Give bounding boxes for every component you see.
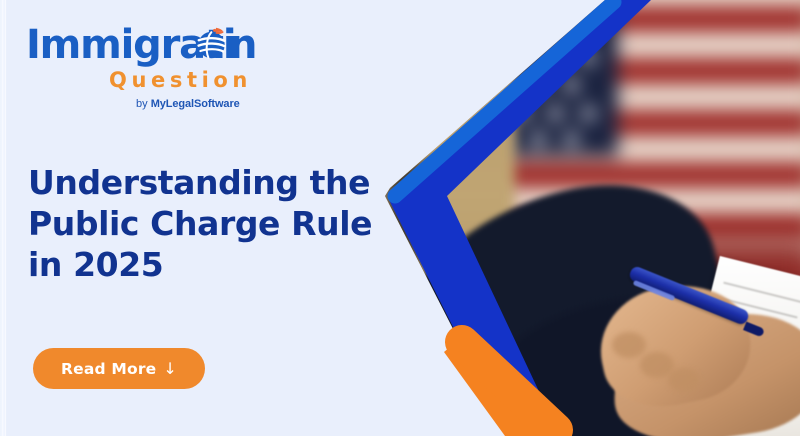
background-wall-shadow xyxy=(385,0,421,436)
byline-company: MyLegalSoftware xyxy=(151,98,240,110)
read-more-button[interactable]: Read More ↓ xyxy=(33,348,205,389)
down-arrow-icon: ↓ xyxy=(163,359,177,378)
page-title: Understanding the Public Charge Rule in … xyxy=(28,162,374,285)
logo-byline: by MyLegalSoftware xyxy=(136,98,276,111)
left-edge-line-2 xyxy=(5,0,6,436)
byline-prefix: by xyxy=(136,98,148,110)
logo-word-question: Question xyxy=(109,68,276,92)
promo-banner: Immigrati n Question by MyLegalSoftware xyxy=(0,0,800,436)
left-edge-line-1 xyxy=(2,0,3,436)
brand-logo[interactable]: Immigrati n Question by MyLegalSoftware xyxy=(26,24,276,111)
read-more-label: Read More xyxy=(61,360,156,378)
logo-word-n: n xyxy=(229,24,257,66)
logo-wordmark-row: Immigrati n xyxy=(26,24,276,66)
globe-icon xyxy=(194,26,228,60)
